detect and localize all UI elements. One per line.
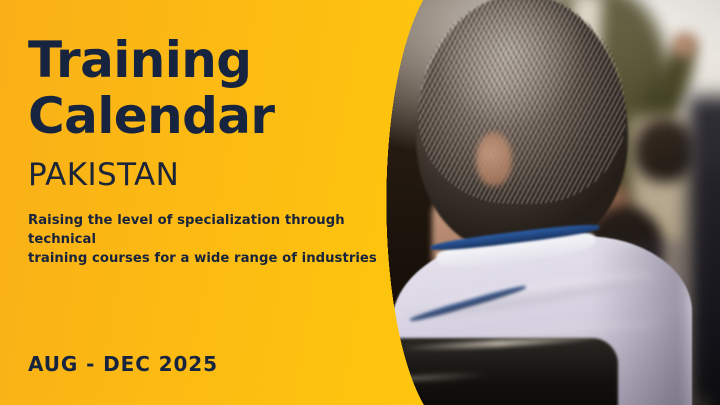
tagline-line-1: Raising the level of specialization thro… <box>28 211 380 249</box>
country-label: PAKISTAN <box>28 158 179 192</box>
title-line-2: Calendar <box>28 88 408 144</box>
text-block: Training Calendar PAKISTAN Raising the l… <box>0 0 420 405</box>
tagline-line-2: training courses for a wide range of ind… <box>28 249 380 268</box>
tagline: Raising the level of specialization thro… <box>28 211 380 268</box>
title-line-1: Training <box>28 32 408 88</box>
page-title: Training Calendar <box>28 32 408 144</box>
training-calendar-slide: Training Calendar PAKISTAN Raising the l… <box>0 0 720 405</box>
date-range: AUG - DEC 2025 <box>28 352 218 376</box>
